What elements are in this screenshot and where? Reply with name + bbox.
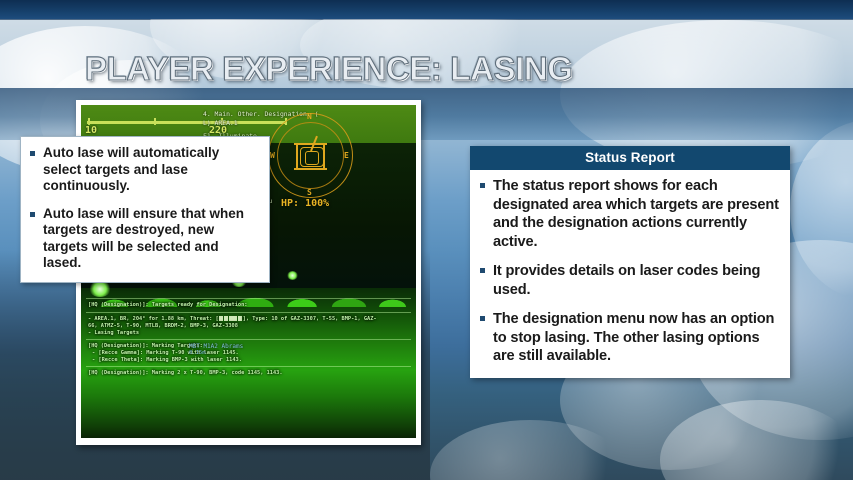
log-line-marking-summary: [HQ (Designation)]: Marking 2 x T-90, BM… bbox=[88, 370, 283, 377]
list-item: The designation menu now has an option t… bbox=[479, 310, 780, 366]
bullet-square-icon bbox=[480, 316, 485, 321]
log-line-marking-targets: [HQ (Designation)]: Marking Targets: bbox=[88, 343, 203, 350]
threat-block bbox=[229, 316, 233, 321]
bullet-text: It provides details on laser codes being… bbox=[493, 263, 760, 298]
list-item: The status report shows for each designa… bbox=[479, 177, 780, 251]
heading-tick bbox=[154, 118, 156, 125]
status-report-body: The status report shows for each designa… bbox=[470, 170, 790, 378]
list-item: It provides details on laser codes being… bbox=[479, 262, 780, 299]
list-item: Auto lase will automatically select targ… bbox=[29, 145, 259, 195]
tank-icon-part bbox=[305, 151, 319, 165]
vehicle-distance: 0.15m bbox=[189, 350, 243, 356]
status-report-bullet-list: The status report shows for each designa… bbox=[479, 177, 780, 366]
log-line-recce-theta: - [Recce Theta]: Marking BMP-3 with lase… bbox=[92, 357, 242, 364]
log-divider bbox=[86, 298, 411, 299]
bullet-square-icon bbox=[30, 212, 35, 217]
log-line-lasing-targets: - Lasing Targets bbox=[88, 330, 139, 337]
thermal-hotspot bbox=[287, 271, 298, 280]
threat-block bbox=[224, 316, 228, 321]
left-bullet-list: Auto lase will automatically select targ… bbox=[29, 145, 259, 272]
heading-label-left: 10 bbox=[85, 125, 97, 136]
threat-block bbox=[219, 316, 223, 321]
bullet-text: The designation menu now has an option t… bbox=[493, 311, 774, 364]
thermal-hotspot bbox=[89, 281, 111, 297]
bullet-square-icon bbox=[480, 268, 485, 273]
vehicle-name: MBT M1A2 Abrams bbox=[189, 343, 243, 350]
top-accent-strip bbox=[0, 0, 853, 19]
compass-east-label: E bbox=[344, 151, 349, 160]
compass-north-label: N bbox=[307, 112, 312, 121]
log-divider bbox=[86, 339, 411, 340]
page-title: PLAYER EXPERIENCE: LASING bbox=[85, 50, 765, 94]
log-line-targets-ready: [HQ (Designation)]: Targets ready for De… bbox=[88, 302, 247, 309]
threat-block bbox=[233, 316, 237, 321]
compass-rose: N E S W bbox=[268, 113, 353, 198]
bullet-text: Auto lase will automatically select targ… bbox=[43, 145, 219, 193]
tank-icon-part bbox=[296, 145, 298, 169]
log-line-target-types: 66, ATMZ-5, T-90, MTLB, BRDM-2, BMP-3, G… bbox=[88, 323, 238, 330]
threat-block bbox=[238, 316, 242, 321]
log-line-area-detail: - AREA.1, BR, 204° for 1.88 km, Threat: … bbox=[88, 316, 413, 323]
log-area-suffix: ], Type: 10 of GAZ-3307, T-55, BMP-1, GA… bbox=[243, 316, 377, 322]
log-area-prefix: - AREA.1, BR, 204° for 1.88 km, Threat: … bbox=[88, 316, 219, 322]
slide-canvas: PLAYER EXPERIENCE: LASING 10 220 4. Main… bbox=[0, 0, 853, 480]
bullet-text: Auto lase will ensure that when targets … bbox=[43, 206, 244, 271]
log-divider bbox=[86, 366, 411, 367]
bullet-text: The status report shows for each designa… bbox=[493, 178, 779, 250]
tank-icon bbox=[296, 137, 326, 173]
heading-tick bbox=[88, 118, 90, 125]
status-report-header: Status Report bbox=[470, 146, 790, 170]
bullet-square-icon bbox=[480, 183, 485, 188]
hp-indicator: HP: 100% bbox=[281, 198, 329, 209]
compass-south-label: S bbox=[307, 188, 312, 197]
list-item: Auto lase will ensure that when targets … bbox=[29, 206, 259, 272]
compass-west-label: W bbox=[270, 151, 275, 160]
log-divider bbox=[86, 312, 411, 313]
status-report-panel: Status Report The status report shows fo… bbox=[470, 146, 790, 378]
left-callout-box: Auto lase will automatically select targ… bbox=[20, 136, 270, 283]
vehicle-label: MBT M1A2 Abrams 0.15m bbox=[189, 343, 243, 356]
bullet-square-icon bbox=[30, 151, 35, 156]
